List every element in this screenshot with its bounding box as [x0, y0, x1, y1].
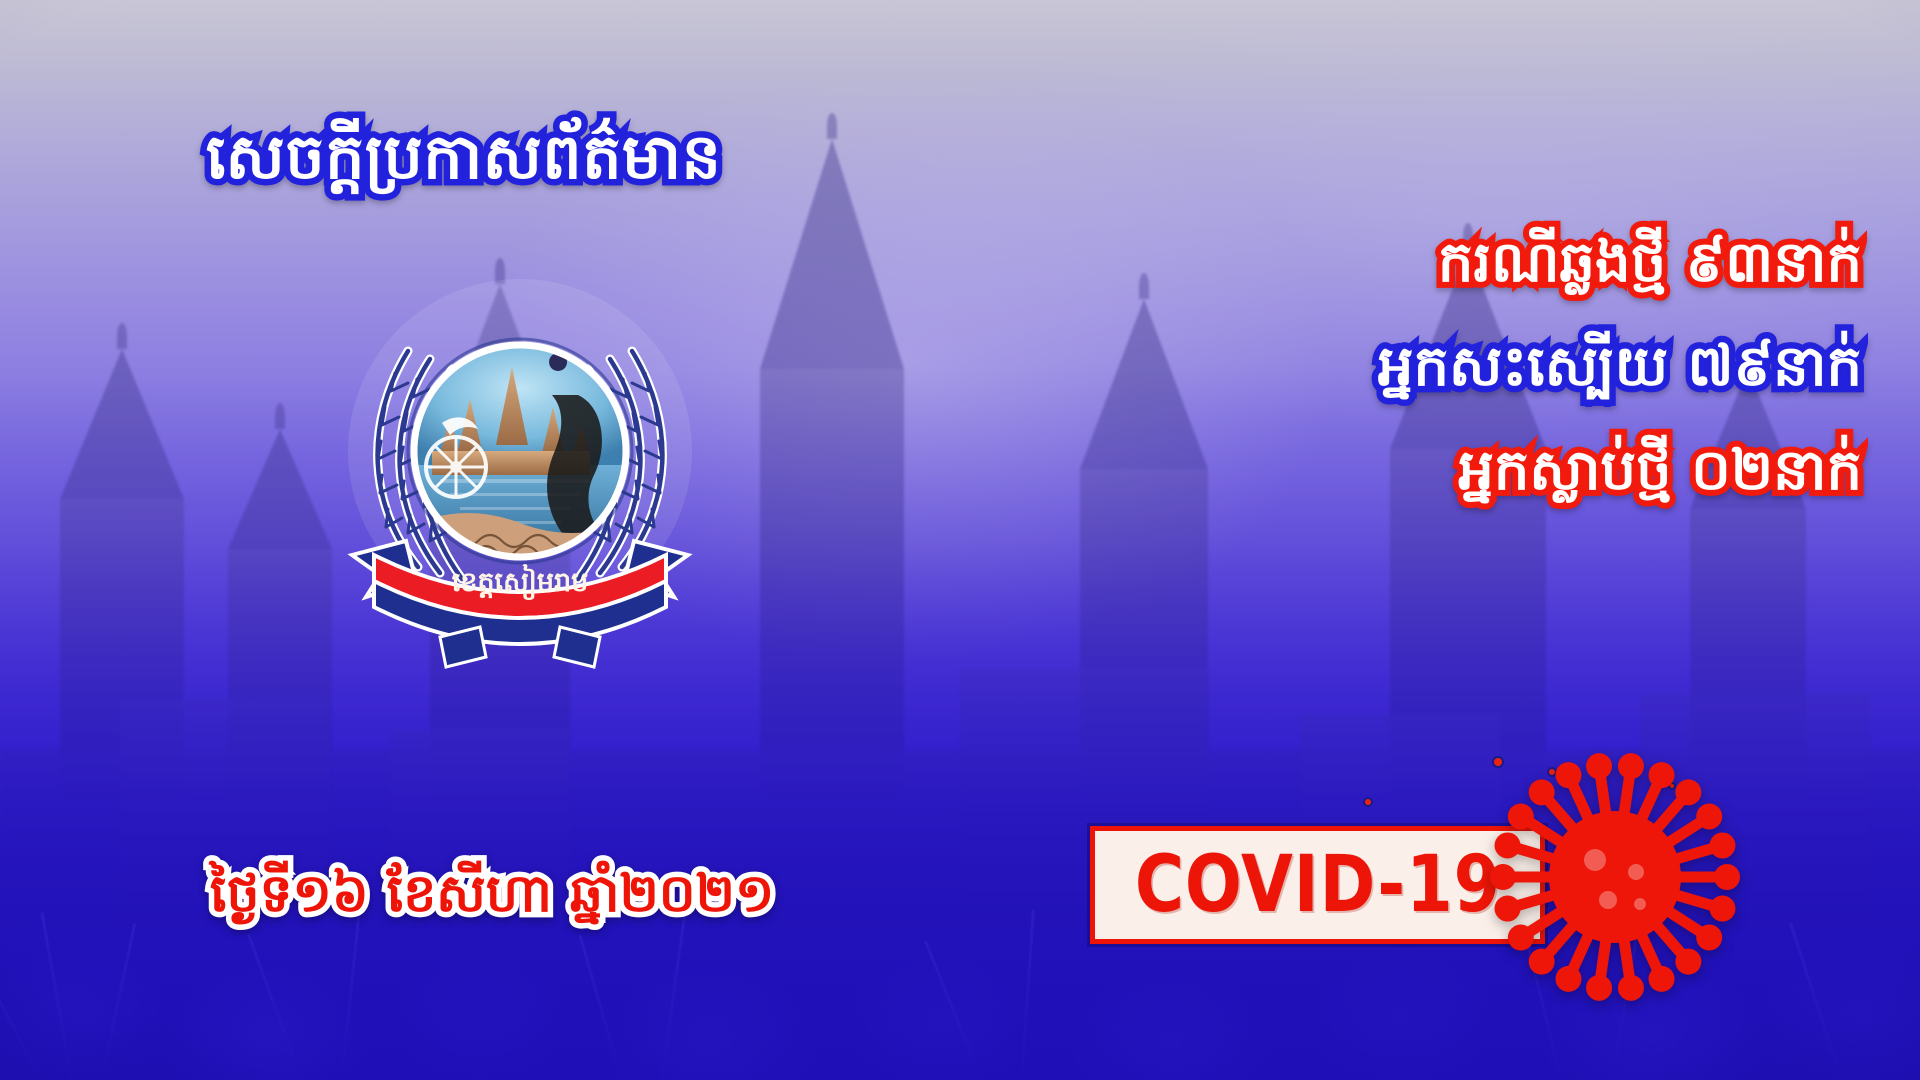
stat-new-deaths: អ្នកស្លាប់ថ្មី ០២នាក់ — [1102, 436, 1862, 506]
coronavirus-icon — [1490, 752, 1740, 1002]
emblem-ribbon-text: ខេត្តសៀមរាប — [452, 564, 589, 601]
date-label: ថ្ងៃទី១៦ ខែសីហា ឆ្នាំ២០២១ — [210, 862, 774, 927]
covid-19-badge: COVID-19 — [1090, 826, 1545, 944]
covid-19-badge-label: COVID-19 — [1134, 840, 1500, 930]
stat-new-cases: ករណីឆ្លងថ្មី ៩៣នាក់ — [1102, 228, 1862, 298]
page-title: សេចក្តីប្រកាសព័ត៌មាន — [206, 118, 721, 196]
province-emblem: ខេត្តសៀមរាប — [290, 255, 750, 695]
stat-recovered: អ្នកសះស្បើយ ៧៩នាក់ — [1102, 332, 1862, 402]
statistics-block: ករណីឆ្លងថ្មី ៩៣នាក់ អ្នកសះស្បើយ ៧៩នាក់ អ… — [1102, 228, 1862, 506]
covid-announcement-poster: សេចក្តីប្រកាសព័ត៌មាន — [0, 0, 1920, 1080]
